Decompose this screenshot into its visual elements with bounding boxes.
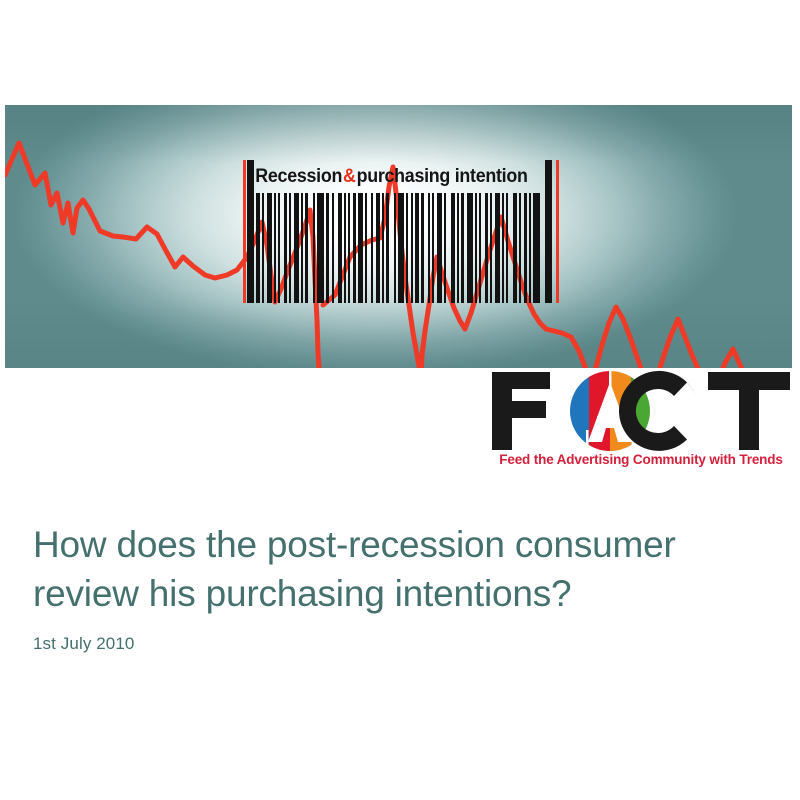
barcode-bar xyxy=(490,193,492,303)
barcode-bar xyxy=(365,193,367,303)
barcode-bar xyxy=(485,193,488,303)
barcode-bar xyxy=(411,193,413,303)
barcode-bar xyxy=(376,193,380,303)
barcode-bar xyxy=(284,193,287,303)
barcode-bar xyxy=(317,193,324,303)
barcode-bar xyxy=(451,193,455,303)
barcode-label-prefix: Recession xyxy=(255,166,342,188)
barcode-bar xyxy=(506,193,508,303)
page-date: 1st July 2010 xyxy=(33,634,763,654)
barcode-label: Recession & purchasing intention xyxy=(257,163,526,191)
page-title: How does the post-recession consumer rev… xyxy=(33,520,763,618)
barcode-rail-right xyxy=(556,160,559,303)
barcode-bar xyxy=(529,193,531,303)
barcode-bar xyxy=(289,193,291,303)
fact-logo-letter-c xyxy=(619,371,701,451)
barcode-bar xyxy=(461,193,464,303)
barcode-bars xyxy=(256,193,544,303)
barcode-bar xyxy=(274,193,276,303)
barcode-endbar-right xyxy=(545,160,552,303)
barcode-bar xyxy=(262,193,264,303)
barcode-bar xyxy=(533,193,540,303)
barcode-bar xyxy=(513,193,517,303)
barcode-bar xyxy=(371,193,373,303)
fact-logo-tagline: Feed the Advertising Community with Tren… xyxy=(490,452,792,467)
barcode-bar xyxy=(332,193,334,303)
barcode-bar xyxy=(353,193,356,303)
barcode-bar xyxy=(386,193,389,303)
barcode-bar xyxy=(326,193,329,303)
title-block: How does the post-recession consumer rev… xyxy=(33,520,763,654)
fact-logo-letter-f xyxy=(492,372,550,450)
barcode-bar xyxy=(294,193,299,303)
barcode-bar xyxy=(421,193,424,303)
barcode-bar xyxy=(437,193,442,303)
barcode-bar xyxy=(519,193,521,303)
barcode-bar xyxy=(313,193,315,303)
barcode-rail-left xyxy=(243,160,246,303)
barcode-bar xyxy=(467,193,473,303)
barcode-bar xyxy=(524,193,527,303)
barcode-bar xyxy=(301,193,303,303)
barcode-endbar-left xyxy=(247,160,254,303)
barcode-bar xyxy=(344,193,346,303)
barcode-bar xyxy=(415,193,419,303)
barcode-bar xyxy=(398,193,404,303)
barcode-bar xyxy=(394,193,396,303)
barcode-bar xyxy=(444,193,446,303)
barcode-bar xyxy=(348,193,350,303)
barcode-bar xyxy=(278,193,280,303)
barcode-bar xyxy=(495,193,500,303)
barcode-label-suffix: purchasing intention xyxy=(357,166,528,188)
fact-logo-mark xyxy=(490,370,792,452)
barcode-bar xyxy=(256,193,260,303)
barcode-bar xyxy=(428,193,430,303)
barcode-bar xyxy=(406,193,408,303)
barcode-bar xyxy=(457,193,459,303)
recession-banner: Recession & purchasing intention xyxy=(5,105,792,368)
barcode-bar xyxy=(475,193,477,303)
barcode-bar xyxy=(267,193,272,303)
barcode-bar xyxy=(432,193,434,303)
barcode-bar xyxy=(358,193,363,303)
barcode-bar xyxy=(338,193,342,303)
fact-logo-letter-t xyxy=(708,372,790,450)
barcode-label-ampersand: & xyxy=(342,166,356,188)
barcode-bar xyxy=(479,193,481,303)
fact-logo: Feed the Advertising Community with Tren… xyxy=(490,370,792,478)
barcode-graphic: Recession & purchasing intention xyxy=(243,160,559,303)
barcode-bar xyxy=(502,193,504,303)
barcode-bar xyxy=(305,193,308,303)
barcode-bar xyxy=(382,193,384,303)
